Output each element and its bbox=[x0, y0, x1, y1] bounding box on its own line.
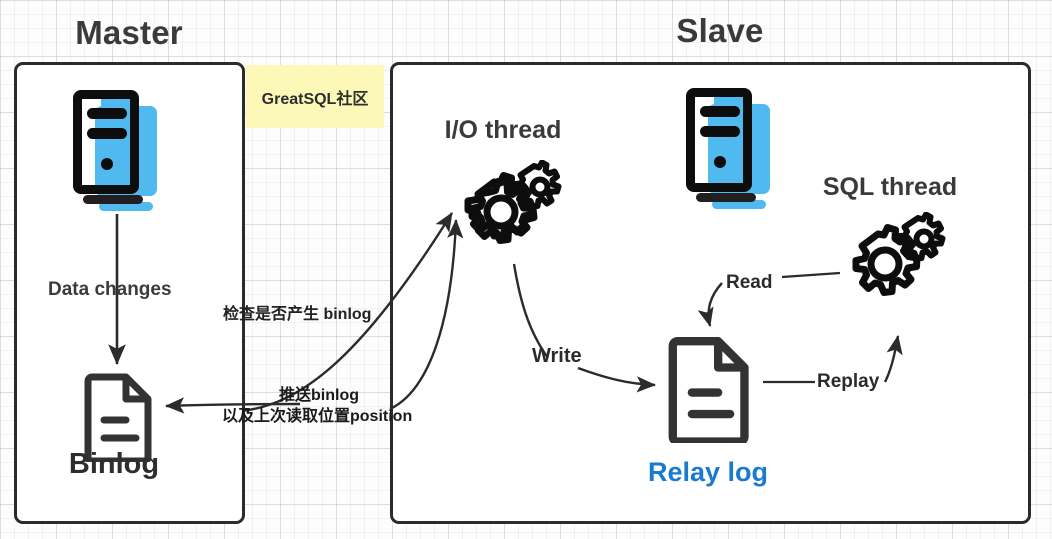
watermark-badge: GreatSQL社区 bbox=[246, 65, 384, 128]
server-bar-bottom bbox=[700, 126, 740, 137]
label-io-thread: I/O thread bbox=[378, 116, 628, 145]
io-thread-gears-icon bbox=[456, 160, 564, 252]
label-write: Write bbox=[532, 345, 582, 368]
sql-thread-gears-icon bbox=[840, 212, 948, 304]
server-bar-top bbox=[87, 108, 127, 119]
server-case bbox=[686, 88, 752, 192]
label-replay: Replay bbox=[817, 371, 879, 393]
gear-large bbox=[856, 228, 917, 293]
slave-server-icon bbox=[686, 88, 774, 210]
server-power-dot bbox=[714, 156, 726, 168]
label-data-changes: Data changes bbox=[48, 279, 172, 301]
master-title: Master bbox=[0, 14, 258, 52]
server-case bbox=[73, 90, 139, 194]
relay-log-document-icon bbox=[668, 335, 754, 443]
label-read: Read bbox=[726, 272, 772, 294]
label-relay-log: Relay log bbox=[608, 457, 808, 488]
master-server-icon bbox=[73, 90, 161, 212]
server-base bbox=[696, 193, 756, 202]
slave-title: Slave bbox=[600, 12, 840, 50]
server-power-dot bbox=[101, 158, 113, 170]
server-bar-top bbox=[700, 106, 740, 117]
label-push-position: 以及上次读取位置position bbox=[222, 402, 412, 426]
gear-small bbox=[515, 163, 559, 207]
gear-small bbox=[899, 215, 943, 259]
server-bar-bottom bbox=[87, 128, 127, 139]
label-binlog: Binlog bbox=[14, 448, 214, 481]
label-check-binlog: 检查是否产生 binlog bbox=[223, 300, 371, 324]
server-base bbox=[83, 195, 143, 204]
diagram-canvas: Master Slave GreatSQL社区 bbox=[0, 0, 1052, 539]
label-sql-thread: SQL thread bbox=[790, 173, 990, 202]
